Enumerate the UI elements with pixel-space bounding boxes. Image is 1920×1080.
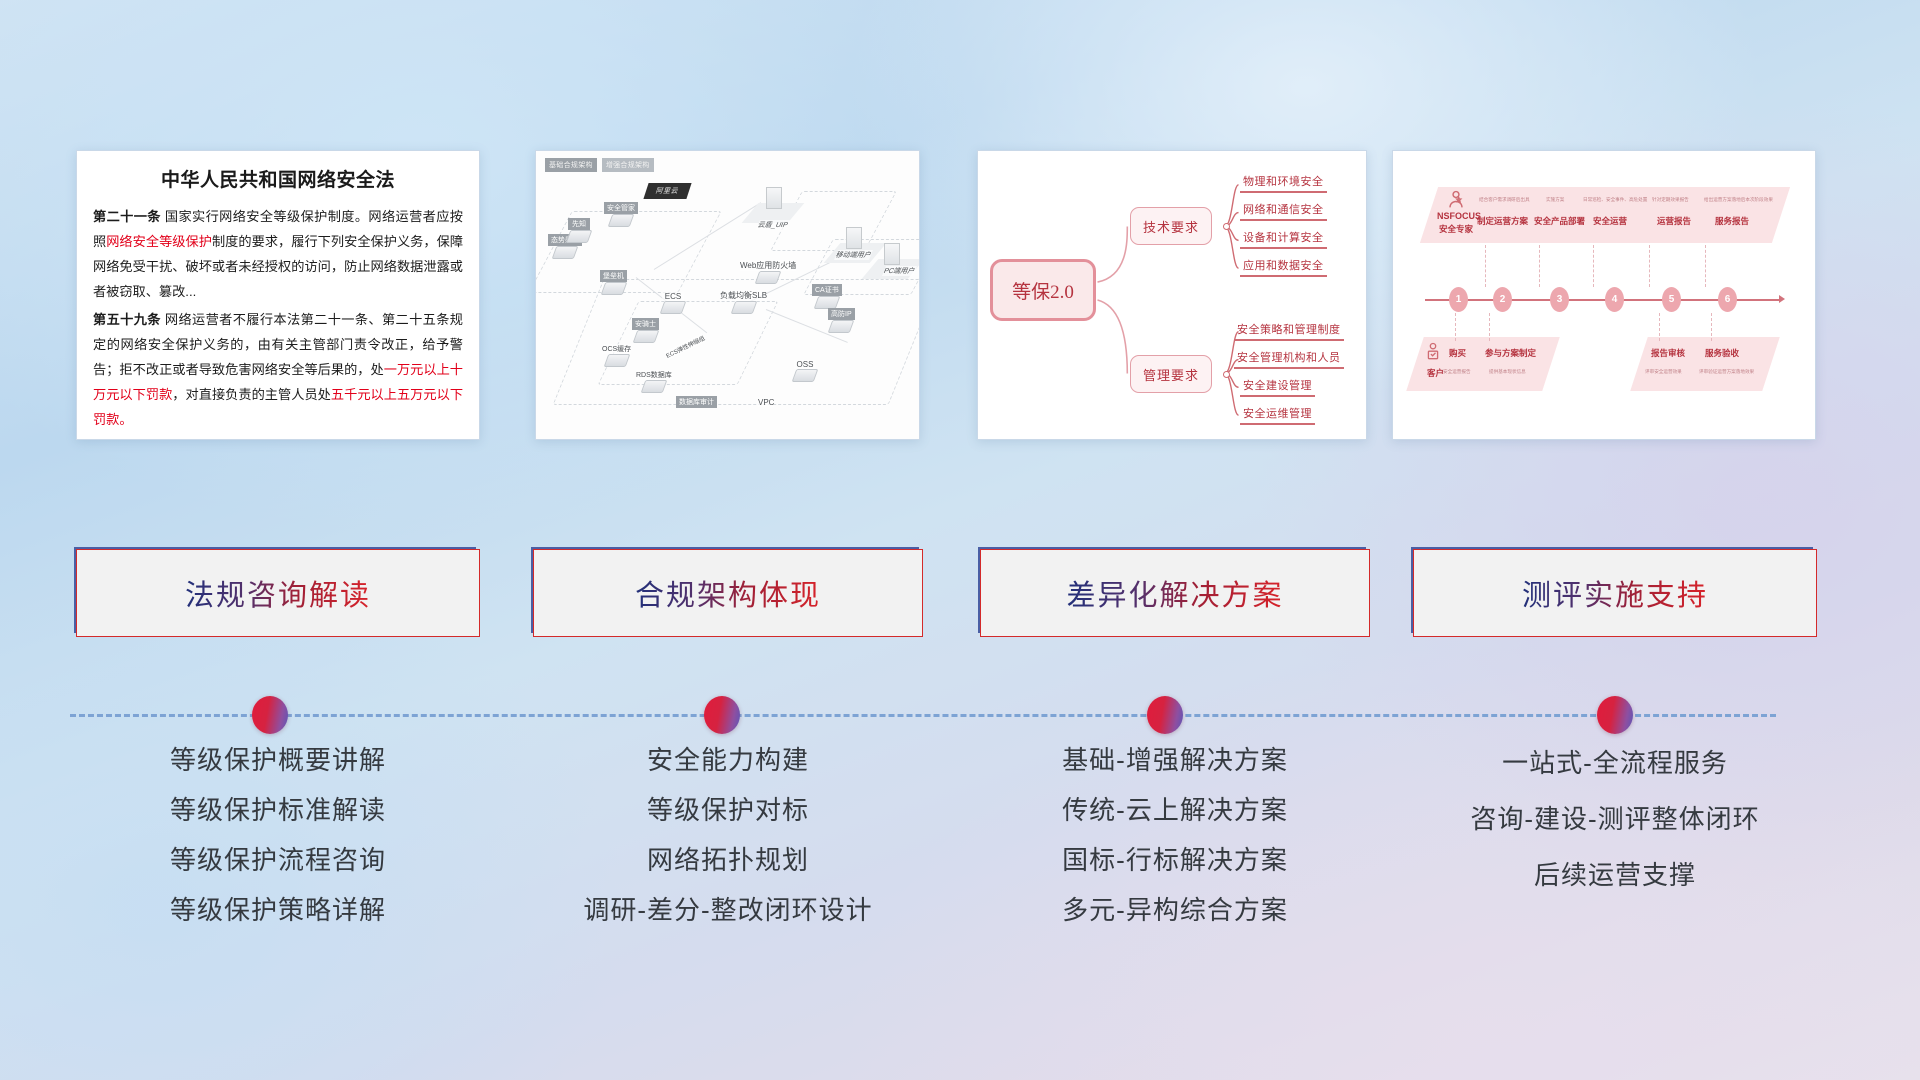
nsfocus-top-sub-4: 针对定期效果报告 <box>1652 197 1689 203</box>
nsfocus-bottom-label-3: 报告审核 <box>1651 347 1685 359</box>
service-list-differentiated-solution: 基础-增强解决方案 传统-云上解决方案 国标-行标解决方案 多元-异构综合方案 <box>980 735 1370 935</box>
architecture-tabs: 基础合规架构 增强合规架构 <box>545 158 654 172</box>
service-lists-row: 等级保护概要讲解 等级保护标准解读 等级保护流程咨询 等级保护策略详解 安全能力… <box>0 735 1920 965</box>
mindmap-branch-management[interactable]: 管理要求 <box>1130 355 1212 393</box>
heading-boxes-row: 法规咨询解读 合规架构体现 差异化解决方案 测评实施支持 <box>0 549 1920 637</box>
nsfocus-tick <box>1593 245 1594 287</box>
nsfocus-customer-band-right <box>1630 337 1780 391</box>
architecture-node-xianzhi[interactable]: 先知 <box>568 217 590 243</box>
timeline-dot-4[interactable] <box>1597 696 1633 734</box>
architecture-node-anqishi[interactable]: 安骑士 <box>632 317 659 343</box>
nsfocus-bottom-label-1: 购买 <box>1449 347 1466 359</box>
list-item: 基础-增强解决方案 <box>980 735 1370 785</box>
architecture-node-pc-client[interactable]: PC端用户 <box>884 265 915 276</box>
nsfocus-top-label-3: 安全运营 <box>1593 215 1627 227</box>
architecture-node-rds[interactable]: RDS数据库 <box>636 369 672 393</box>
nsfocus-tick <box>1455 313 1456 341</box>
nsfocus-top-label-2: 安全产品部署 <box>1534 215 1585 227</box>
reference-cards-row: 中华人民共和国网络安全法 第二十一条 国家实行网络安全等级保护制度。网络运营者应… <box>0 150 1920 440</box>
mindmap-leaf-security-org-personnel: 安全管理机构和人员 <box>1234 349 1344 369</box>
nsfocus-timeline: NSFOCUS 安全专家 客户 1 <box>1393 151 1815 439</box>
architecture-cloud-label: 阿里云 <box>643 183 691 199</box>
nsfocus-top-sub-1: 结合客户需求调研后出具 <box>1479 197 1530 203</box>
mindmap-collapse-dot-technical[interactable] <box>1223 223 1230 230</box>
nsfocus-top-sub-5: 给出运营方案落地后本次阶段效果 <box>1704 197 1773 203</box>
timeline-dot-3[interactable] <box>1147 696 1183 734</box>
architecture-server <box>766 187 782 209</box>
nsfocus-step-5[interactable]: 5 <box>1662 287 1681 312</box>
architecture-node-cloud-uip[interactable]: 云盾_UIP <box>758 219 788 230</box>
card-mindmap-dengbao[interactable]: 等保2.0 技术要求 物理和环境安全 网络和通信安全 设备和计算安全 应用和数据… <box>977 150 1367 440</box>
nsfocus-brand-label: NSFOCUS <box>1437 211 1481 221</box>
architecture-tab-enhanced[interactable]: 增强合规架构 <box>602 158 654 172</box>
architecture-node-ocs-cache[interactable]: OCS缓存 <box>602 343 631 367</box>
timeline-dot-1[interactable] <box>252 696 288 734</box>
service-list-compliance-architecture: 安全能力构建 等级保护对标 网络拓扑规划 调研-差分-整改闭环设计 <box>533 735 923 935</box>
architecture-node-slb[interactable]: 负载均衡SLB <box>720 289 767 314</box>
list-item: 等级保护标准解读 <box>76 785 480 835</box>
timeline-dashed-line <box>70 714 1776 717</box>
mindmap-leaf-physical-env-security: 物理和环境安全 <box>1240 173 1327 193</box>
mindmap-branch-technical[interactable]: 技术要求 <box>1130 207 1212 245</box>
architecture-node-ecs-scaling-group: ECS弹性伸缩组 <box>664 341 706 351</box>
nsfocus-top-sub-3: 日常巡检、安全事件、高危处置 <box>1583 197 1647 203</box>
mindmap-leaf-security-build-management: 安全建设管理 <box>1240 377 1315 397</box>
heading-box-compliance-architecture[interactable]: 合规架构体现 <box>533 549 923 637</box>
architecture-tab-basic[interactable]: 基础合规架构 <box>545 158 597 172</box>
architecture-diagram: 基础合规架构 增强合规架构 阿里云 态势感知 先知 <box>536 151 919 439</box>
law-article-21-label: 第二十一条 <box>93 209 161 224</box>
timeline-track <box>0 696 1920 736</box>
nsfocus-step-4[interactable]: 4 <box>1605 287 1624 312</box>
nsfocus-tick <box>1539 245 1540 287</box>
nsfocus-tick <box>1711 313 1712 341</box>
service-list-assessment-support: 一站式-全流程服务 咨询-建设-测评整体闭环 后续运营支撑 <box>1413 735 1817 903</box>
list-item: 等级保护流程咨询 <box>76 835 480 885</box>
architecture-node-anti-ddos-ip[interactable]: 高防IP <box>828 307 855 333</box>
mindmap-collapse-dot-management[interactable] <box>1223 371 1230 378</box>
service-list-regulation-consulting: 等级保护概要讲解 等级保护标准解读 等级保护流程咨询 等级保护策略详解 <box>76 735 480 935</box>
card-nsfocus-service-timeline[interactable]: NSFOCUS 安全专家 客户 1 <box>1392 150 1816 440</box>
list-item: 等级保护策略详解 <box>76 885 480 935</box>
nsfocus-bottom-sub-2: 提供基本现状信息 <box>1489 369 1526 375</box>
nsfocus-bottom-sub-3: 评审安全运营效果 <box>1645 369 1682 375</box>
nsfocus-bottom-sub-1: 安全运营报告 <box>1443 369 1471 375</box>
nsfocus-tick <box>1705 245 1706 287</box>
list-item: 调研-差分-整改闭环设计 <box>533 885 923 935</box>
mindmap-leaf-app-data-security: 应用和数据安全 <box>1240 257 1327 277</box>
nsfocus-top-label-1: 制定运营方案 <box>1477 215 1528 227</box>
heading-label-2: 合规架构体现 <box>635 572 821 614</box>
nsfocus-step-1[interactable]: 1 <box>1449 287 1468 312</box>
heading-box-differentiated-solution[interactable]: 差异化解决方案 <box>980 549 1370 637</box>
list-item: 国标-行标解决方案 <box>980 835 1370 885</box>
nsfocus-top-label-4: 运营报告 <box>1657 215 1691 227</box>
nsfocus-top-sub-2: 实施方案 <box>1546 197 1564 203</box>
heading-box-regulation-consulting[interactable]: 法规咨询解读 <box>76 549 480 637</box>
mindmap-leaf-network-comm-security: 网络和通信安全 <box>1240 201 1327 221</box>
architecture-server <box>846 227 862 249</box>
heading-box-assessment-support[interactable]: 测评实施支持 <box>1413 549 1817 637</box>
customer-person-icon <box>1423 341 1443 368</box>
architecture-node-db-audit[interactable]: 数据库审计 <box>676 395 717 408</box>
architecture-node-security-butler[interactable]: 安全管家 <box>604 201 638 227</box>
mindmap-leaf-security-policy-system: 安全策略和管理制度 <box>1234 321 1344 341</box>
mindmap-leaf-security-ops-management: 安全运维管理 <box>1240 405 1315 425</box>
architecture-node-oss[interactable]: OSS <box>794 359 816 382</box>
mindmap: 等保2.0 技术要求 物理和环境安全 网络和通信安全 设备和计算安全 应用和数据… <box>978 151 1366 439</box>
list-item: 后续运营支撑 <box>1413 847 1817 903</box>
list-item: 等级保护对标 <box>533 785 923 835</box>
list-item: 咨询-建设-测评整体闭环 <box>1413 791 1817 847</box>
architecture-node-ecs[interactable]: ECS <box>662 291 684 314</box>
list-item: 网络拓扑规划 <box>533 835 923 885</box>
list-item: 一站式-全流程服务 <box>1413 735 1817 791</box>
nsfocus-expert-role-label: 安全专家 <box>1439 223 1473 235</box>
architecture-node-bastion-host[interactable]: 堡垒机 <box>600 269 627 295</box>
law-card-body: 中华人民共和国网络安全法 第二十一条 国家实行网络安全等级保护制度。网络运营者应… <box>77 151 479 440</box>
nsfocus-bottom-sub-4: 评审验证运营方案落地效果 <box>1699 369 1754 375</box>
law-article-21: 第二十一条 国家实行网络安全等级保护制度。网络运营者应按照网络安全等级保护制度的… <box>93 204 463 304</box>
architecture-server <box>884 243 900 265</box>
list-item: 传统-云上解决方案 <box>980 785 1370 835</box>
mindmap-leaf-device-compute-security: 设备和计算安全 <box>1240 229 1327 249</box>
nsfocus-tick <box>1659 313 1660 341</box>
nsfocus-step-2[interactable]: 2 <box>1493 287 1512 312</box>
law-article-59-label: 第五十九条 <box>93 312 161 327</box>
list-item: 等级保护概要讲解 <box>76 735 480 785</box>
nsfocus-axis-arrow-icon <box>1779 295 1785 303</box>
nsfocus-step-3[interactable]: 3 <box>1550 287 1569 312</box>
nsfocus-tick <box>1489 313 1490 341</box>
nsfocus-tick <box>1649 245 1650 287</box>
nsfocus-bottom-label-2: 参与方案制定 <box>1485 347 1536 359</box>
heading-label-4: 测评实施支持 <box>1522 572 1708 614</box>
list-item: 安全能力构建 <box>533 735 923 785</box>
heading-label-3: 差异化解决方案 <box>1066 572 1283 614</box>
nsfocus-top-label-5: 服务报告 <box>1715 215 1749 227</box>
list-item: 多元-异构综合方案 <box>980 885 1370 935</box>
nsfocus-bottom-label-4: 服务验收 <box>1705 347 1739 359</box>
card-cybersecurity-law[interactable]: 中华人民共和国网络安全法 第二十一条 国家实行网络安全等级保护制度。网络运营者应… <box>76 150 480 440</box>
law-article-21-highlight: 网络安全等级保护 <box>106 234 212 249</box>
architecture-node-vpc[interactable]: VPC <box>758 397 774 407</box>
law-article-59-text-b: ，对直接负责的主管人员处 <box>172 387 331 402</box>
law-title: 中华人民共和国网络安全法 <box>93 165 463 192</box>
law-article-59: 第五十九条 网络运营者不履行本法第二十一条、第二十五条规定的网络安全保护义务的，… <box>93 307 463 432</box>
timeline-dot-2[interactable] <box>704 696 740 734</box>
heading-label-1: 法规咨询解读 <box>185 572 371 614</box>
architecture-node-waf[interactable]: Web应用防火墙 <box>740 259 796 284</box>
nsfocus-step-6[interactable]: 6 <box>1718 287 1737 312</box>
nsfocus-tick <box>1485 245 1486 287</box>
architecture-node-ca-certificate[interactable]: CA证书 <box>812 283 842 309</box>
mindmap-root-node[interactable]: 等保2.0 <box>990 259 1096 321</box>
card-cloud-architecture[interactable]: 基础合规架构 增强合规架构 阿里云 态势感知 先知 <box>535 150 920 440</box>
architecture-node-mobile-client[interactable]: 移动端用户 <box>836 249 871 260</box>
nsfocus-customer-role-label: 客户 <box>1427 367 1444 379</box>
